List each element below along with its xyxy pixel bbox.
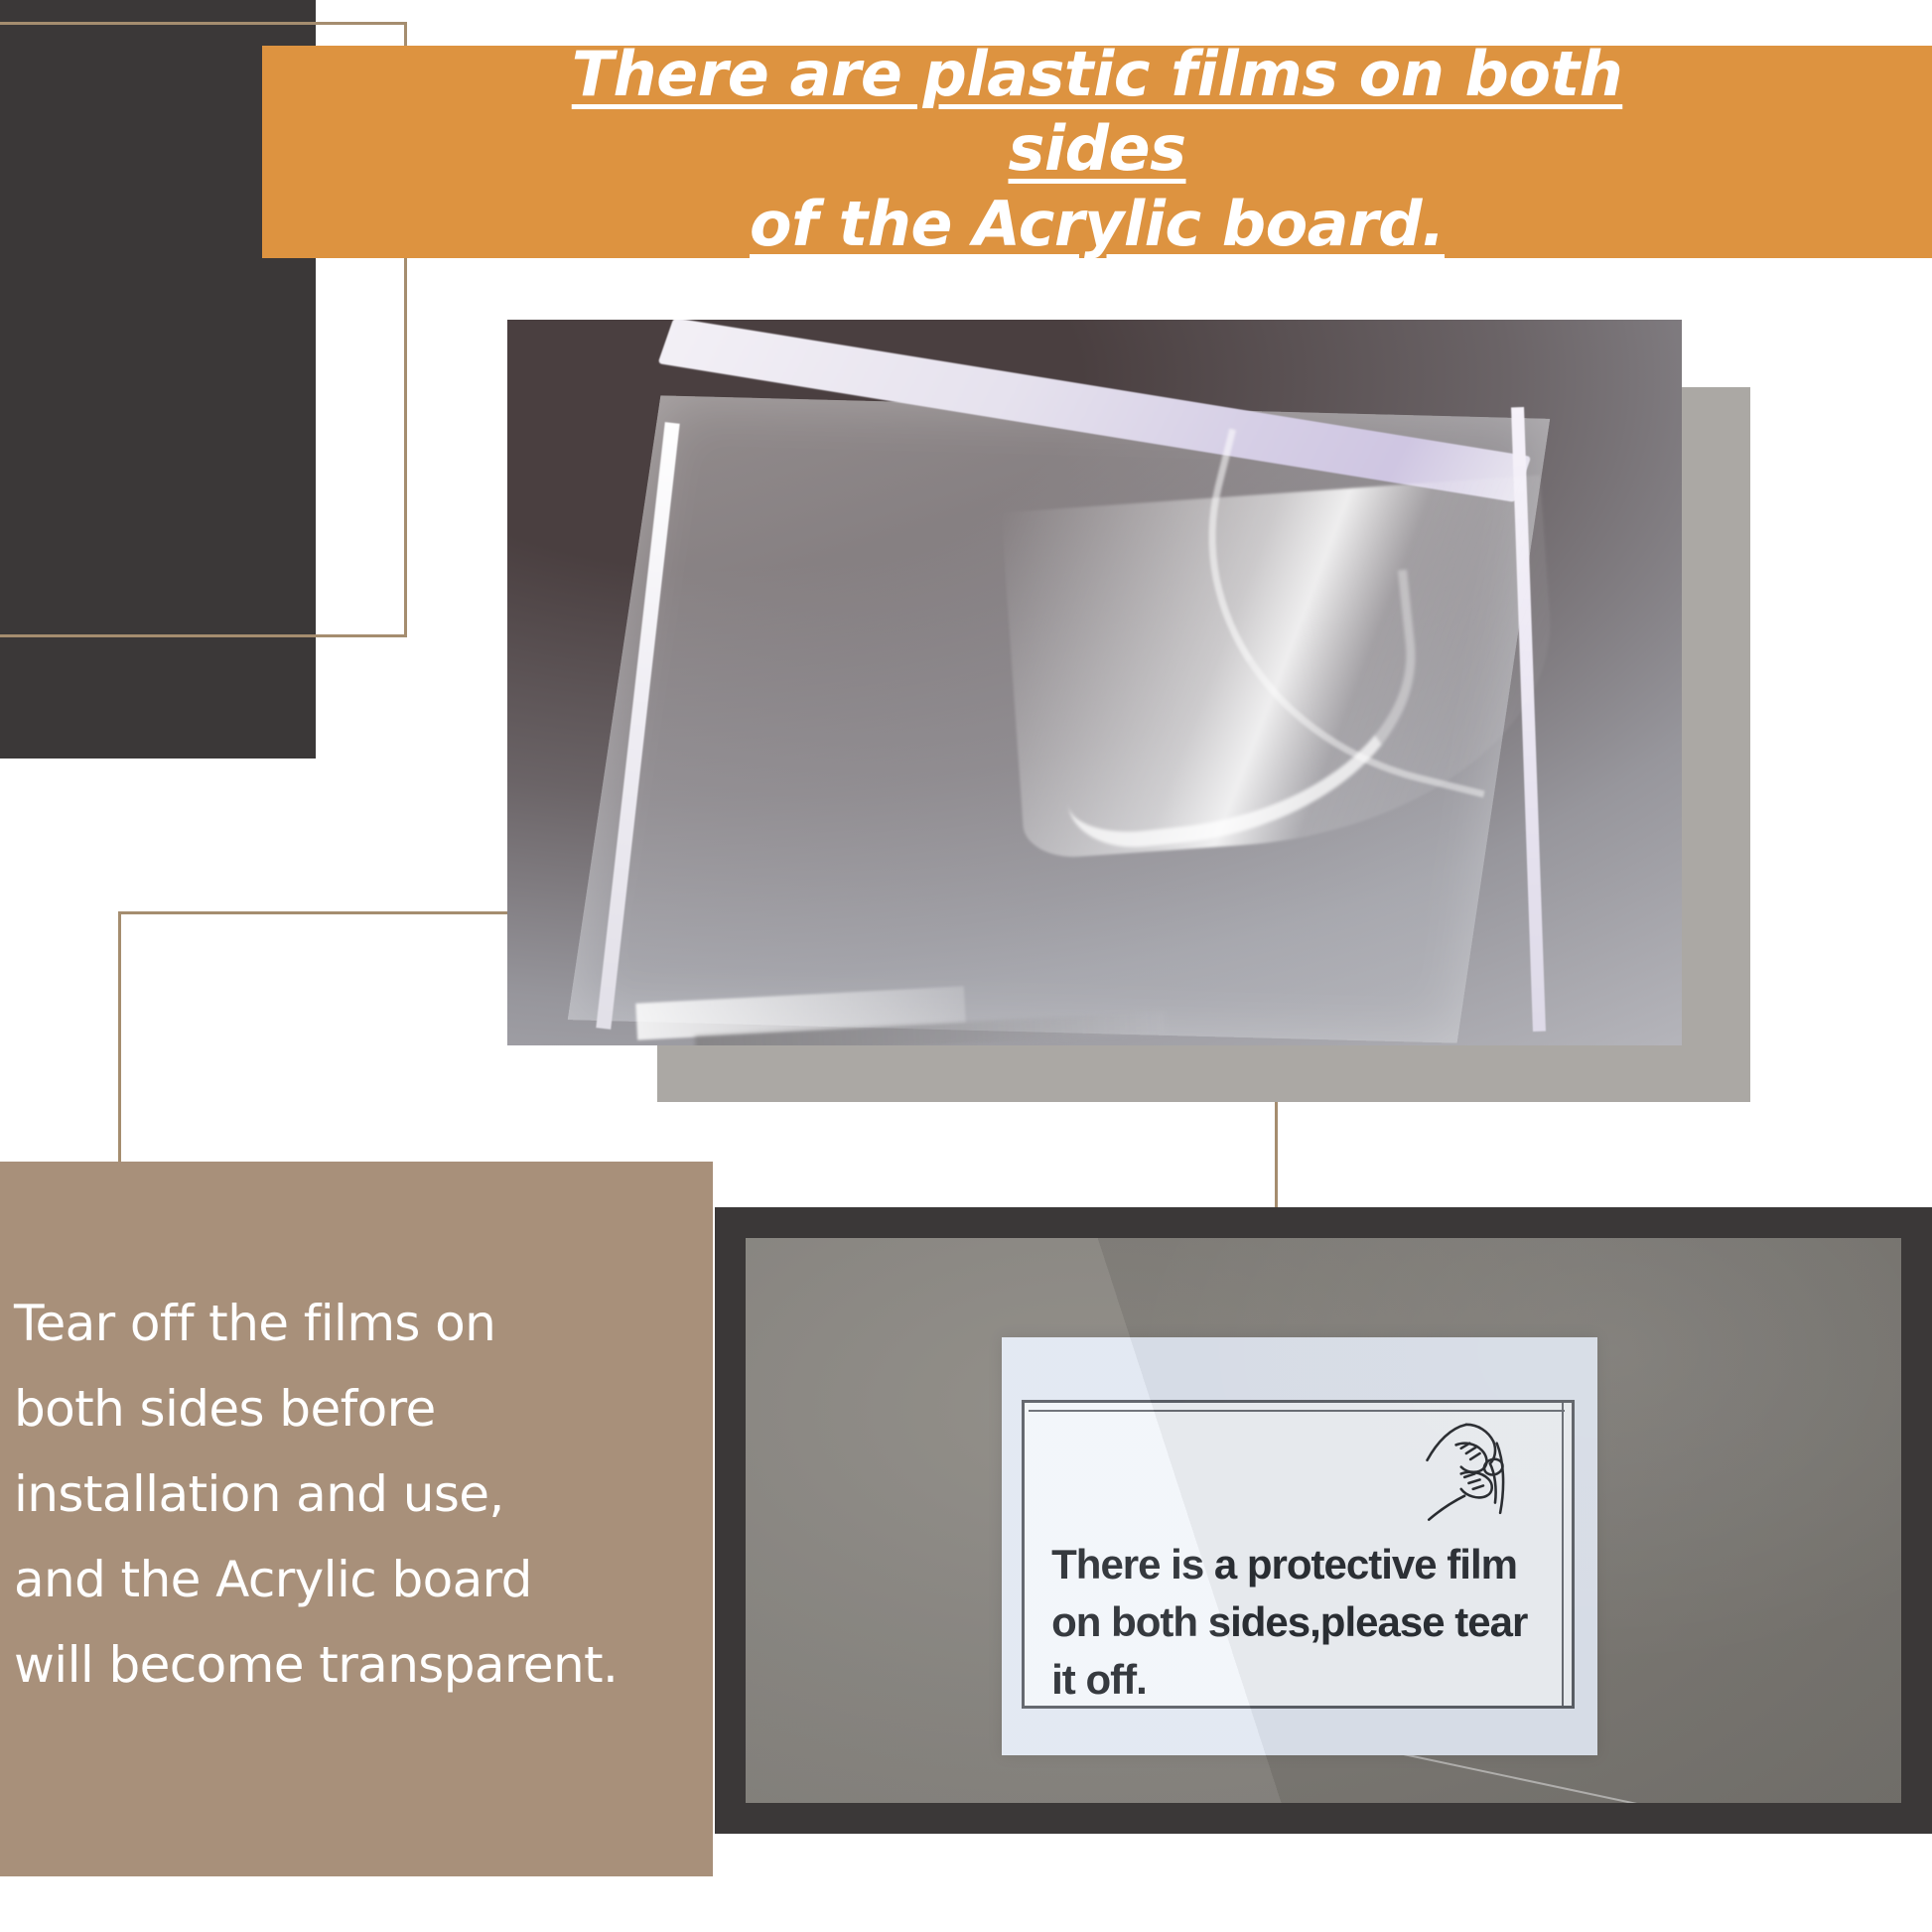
caption-line-3: installation and use, [14, 1451, 669, 1537]
surface-scratch [1373, 1747, 1667, 1803]
caption-line-1: Tear off the films on [14, 1281, 669, 1366]
instruction-caption-text: Tear off the films on both sides before … [14, 1281, 669, 1708]
warning-label-card: There is a protective film on both sides… [1002, 1337, 1596, 1755]
warning-label-line-1: There is a protective film [1051, 1536, 1555, 1593]
warning-label-line-3: it off. [1051, 1651, 1555, 1709]
page-title-line-2: of the Acrylic board. [750, 188, 1445, 260]
warning-label-text: There is a protective film on both sides… [1051, 1536, 1555, 1709]
title-banner: There are plastic films on both sides of… [262, 46, 1932, 258]
label-photo-frame: There is a protective film on both sides… [715, 1207, 1932, 1834]
hand-peeling-film-icon [1391, 1418, 1555, 1545]
page-title-line-1: There are plastic films on both sides [572, 38, 1622, 186]
hero-photo-acrylic-film [507, 320, 1682, 1045]
warning-label-sheet: There is a protective film on both sides… [1022, 1400, 1575, 1710]
label-photo: There is a protective film on both sides… [746, 1238, 1901, 1803]
instruction-caption-block: Tear off the films on both sides before … [0, 1162, 713, 1876]
caption-line-5: will become transparent. [14, 1622, 669, 1708]
caption-line-4: and the Acrylic board [14, 1537, 669, 1622]
caption-line-2: both sides before [14, 1366, 669, 1451]
page-title: There are plastic films on both sides of… [536, 37, 1658, 268]
warning-label-line-2: on both sides,please tear [1051, 1593, 1555, 1651]
